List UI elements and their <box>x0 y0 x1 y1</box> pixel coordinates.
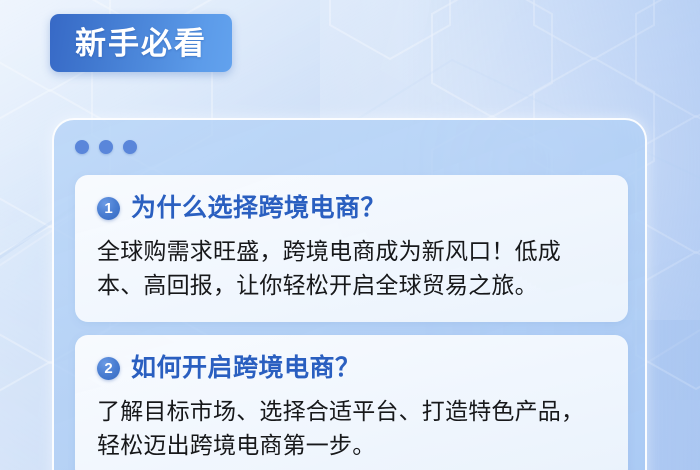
window-dot-2 <box>99 140 113 154</box>
qa-panel-2-title: 如何开启跨境电商？ <box>131 354 361 383</box>
number-badge-2-icon: 2 <box>97 357 120 380</box>
qa-panel-list: 1 为什么选择跨境电商？ 全球购需求旺盛，跨境电商成为新风口！低成本、高回报，让… <box>75 175 628 470</box>
qa-panel-2: 2 如何开启跨境电商？ 了解目标市场、选择合适平台、打造特色产品，轻松迈出跨境电… <box>75 335 628 470</box>
content-card: 1 为什么选择跨境电商？ 全球购需求旺盛，跨境电商成为新风口！低成本、高回报，让… <box>52 118 647 470</box>
poster-canvas: 新手必看 1 为什么选择跨境电商？ 全球购需求旺盛，跨境电商成为新风口！低成本、… <box>0 0 700 470</box>
header-badge: 新手必看 <box>50 14 232 72</box>
number-badge-1-icon: 1 <box>97 197 120 220</box>
qa-panel-1-body: 全球购需求旺盛，跨境电商成为新风口！低成本、高回报，让你轻松开启全球贸易之旅。 <box>97 234 606 302</box>
qa-panel-1-header: 1 为什么选择跨境电商？ <box>97 194 606 223</box>
qa-panel-1: 1 为什么选择跨境电商？ 全球购需求旺盛，跨境电商成为新风口！低成本、高回报，让… <box>75 175 628 322</box>
window-dot-1 <box>75 140 89 154</box>
qa-panel-2-header: 2 如何开启跨境电商？ <box>97 354 606 383</box>
qa-panel-1-title: 为什么选择跨境电商？ <box>131 194 386 223</box>
qa-panel-2-body: 了解目标市场、选择合适平台、打造特色产品，轻松迈出跨境电商第一步。 <box>97 394 606 462</box>
header-badge-label: 新手必看 <box>75 28 207 59</box>
window-dot-3 <box>123 140 137 154</box>
window-dots-icon <box>75 140 137 154</box>
